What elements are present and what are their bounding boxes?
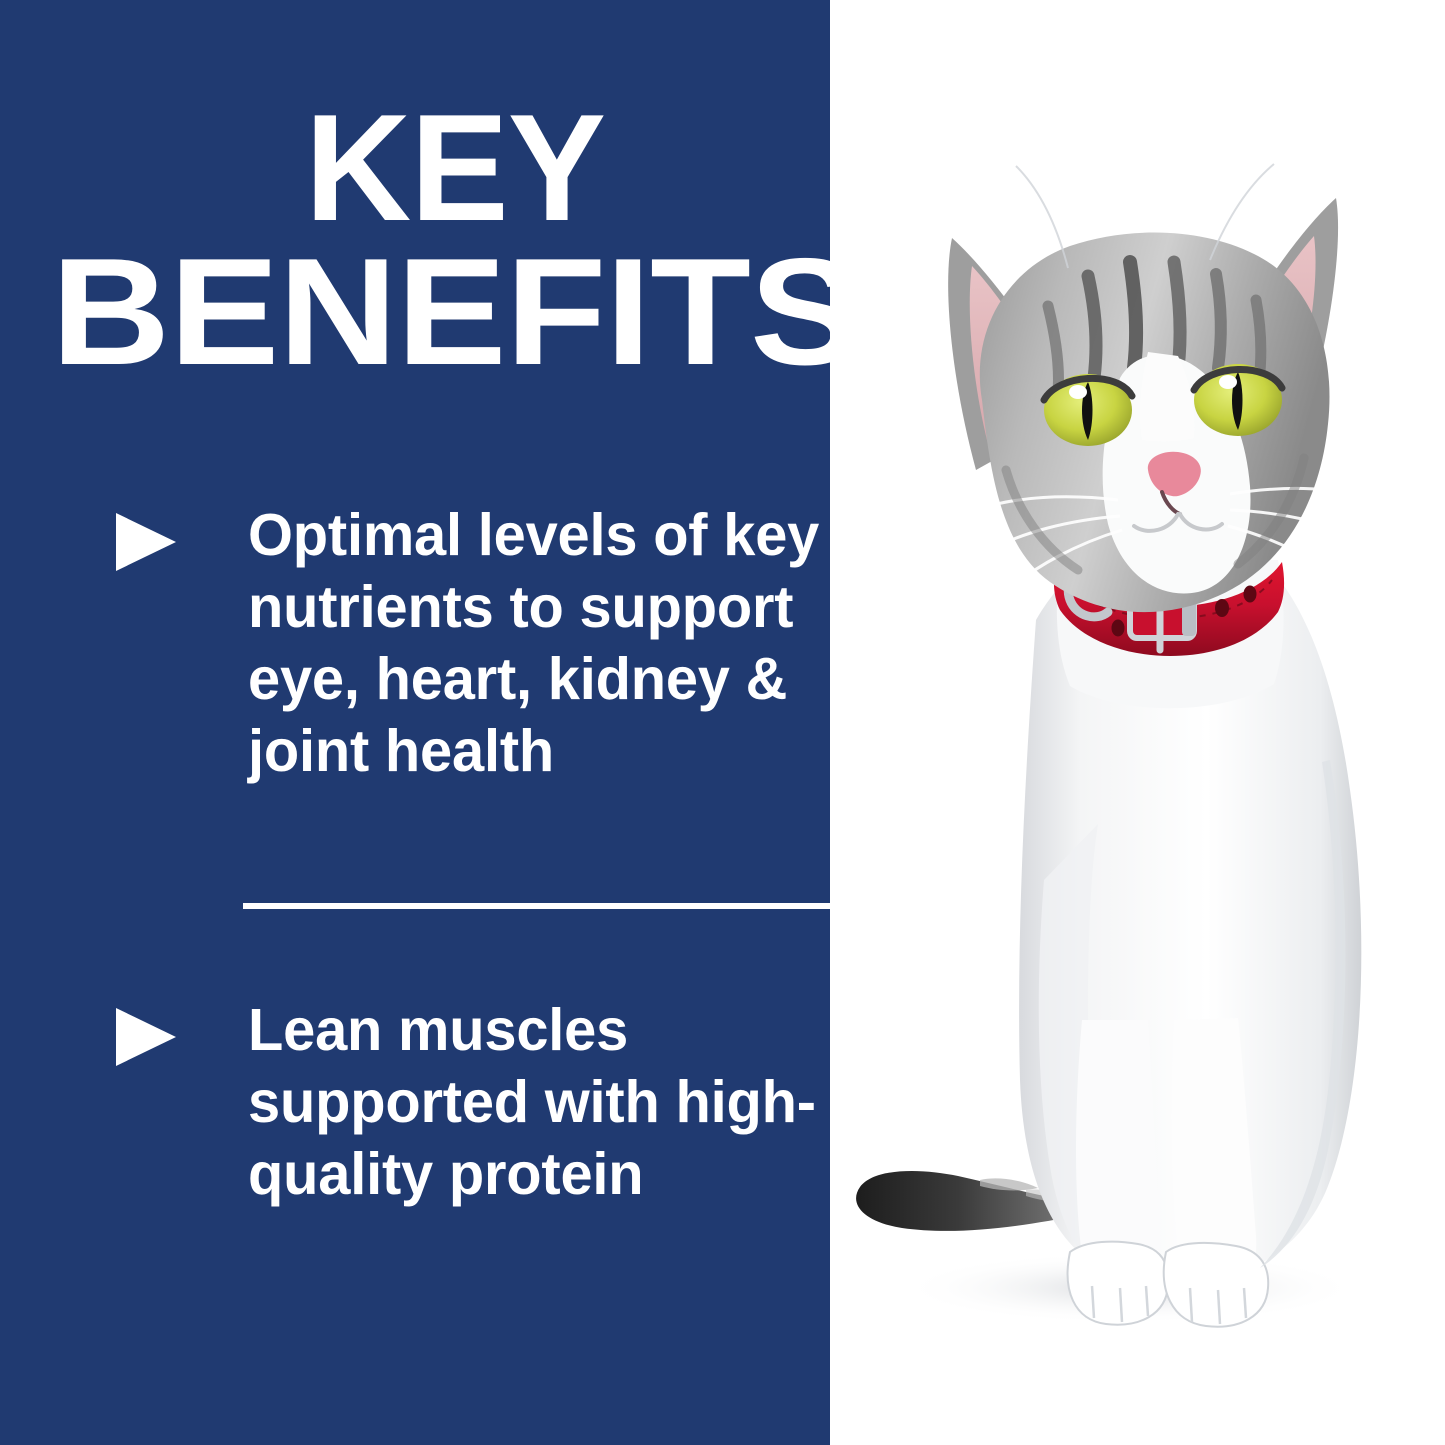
triangle-right-icon	[116, 513, 176, 571]
page-title: KEY BENEFITS	[52, 96, 857, 385]
triangle-right-icon	[116, 1008, 176, 1066]
benefits-divider	[243, 903, 833, 909]
benefit-item-1: Optimal levels of key nutrients to suppo…	[116, 500, 876, 788]
page-title-line-1: KEY	[52, 96, 857, 240]
product-benefits-banner: KEY BENEFITS Optimal levels of key nutri…	[0, 0, 1445, 1445]
benefit-item-2: Lean muscles supported with high-quality…	[116, 995, 876, 1211]
cat-photo	[830, 0, 1445, 1445]
benefit-text-1: Optimal levels of key nutrients to suppo…	[248, 500, 863, 788]
page-title-line-2: BENEFITS	[4, 240, 906, 384]
benefit-text-2: Lean muscles supported with high-quality…	[248, 995, 863, 1211]
